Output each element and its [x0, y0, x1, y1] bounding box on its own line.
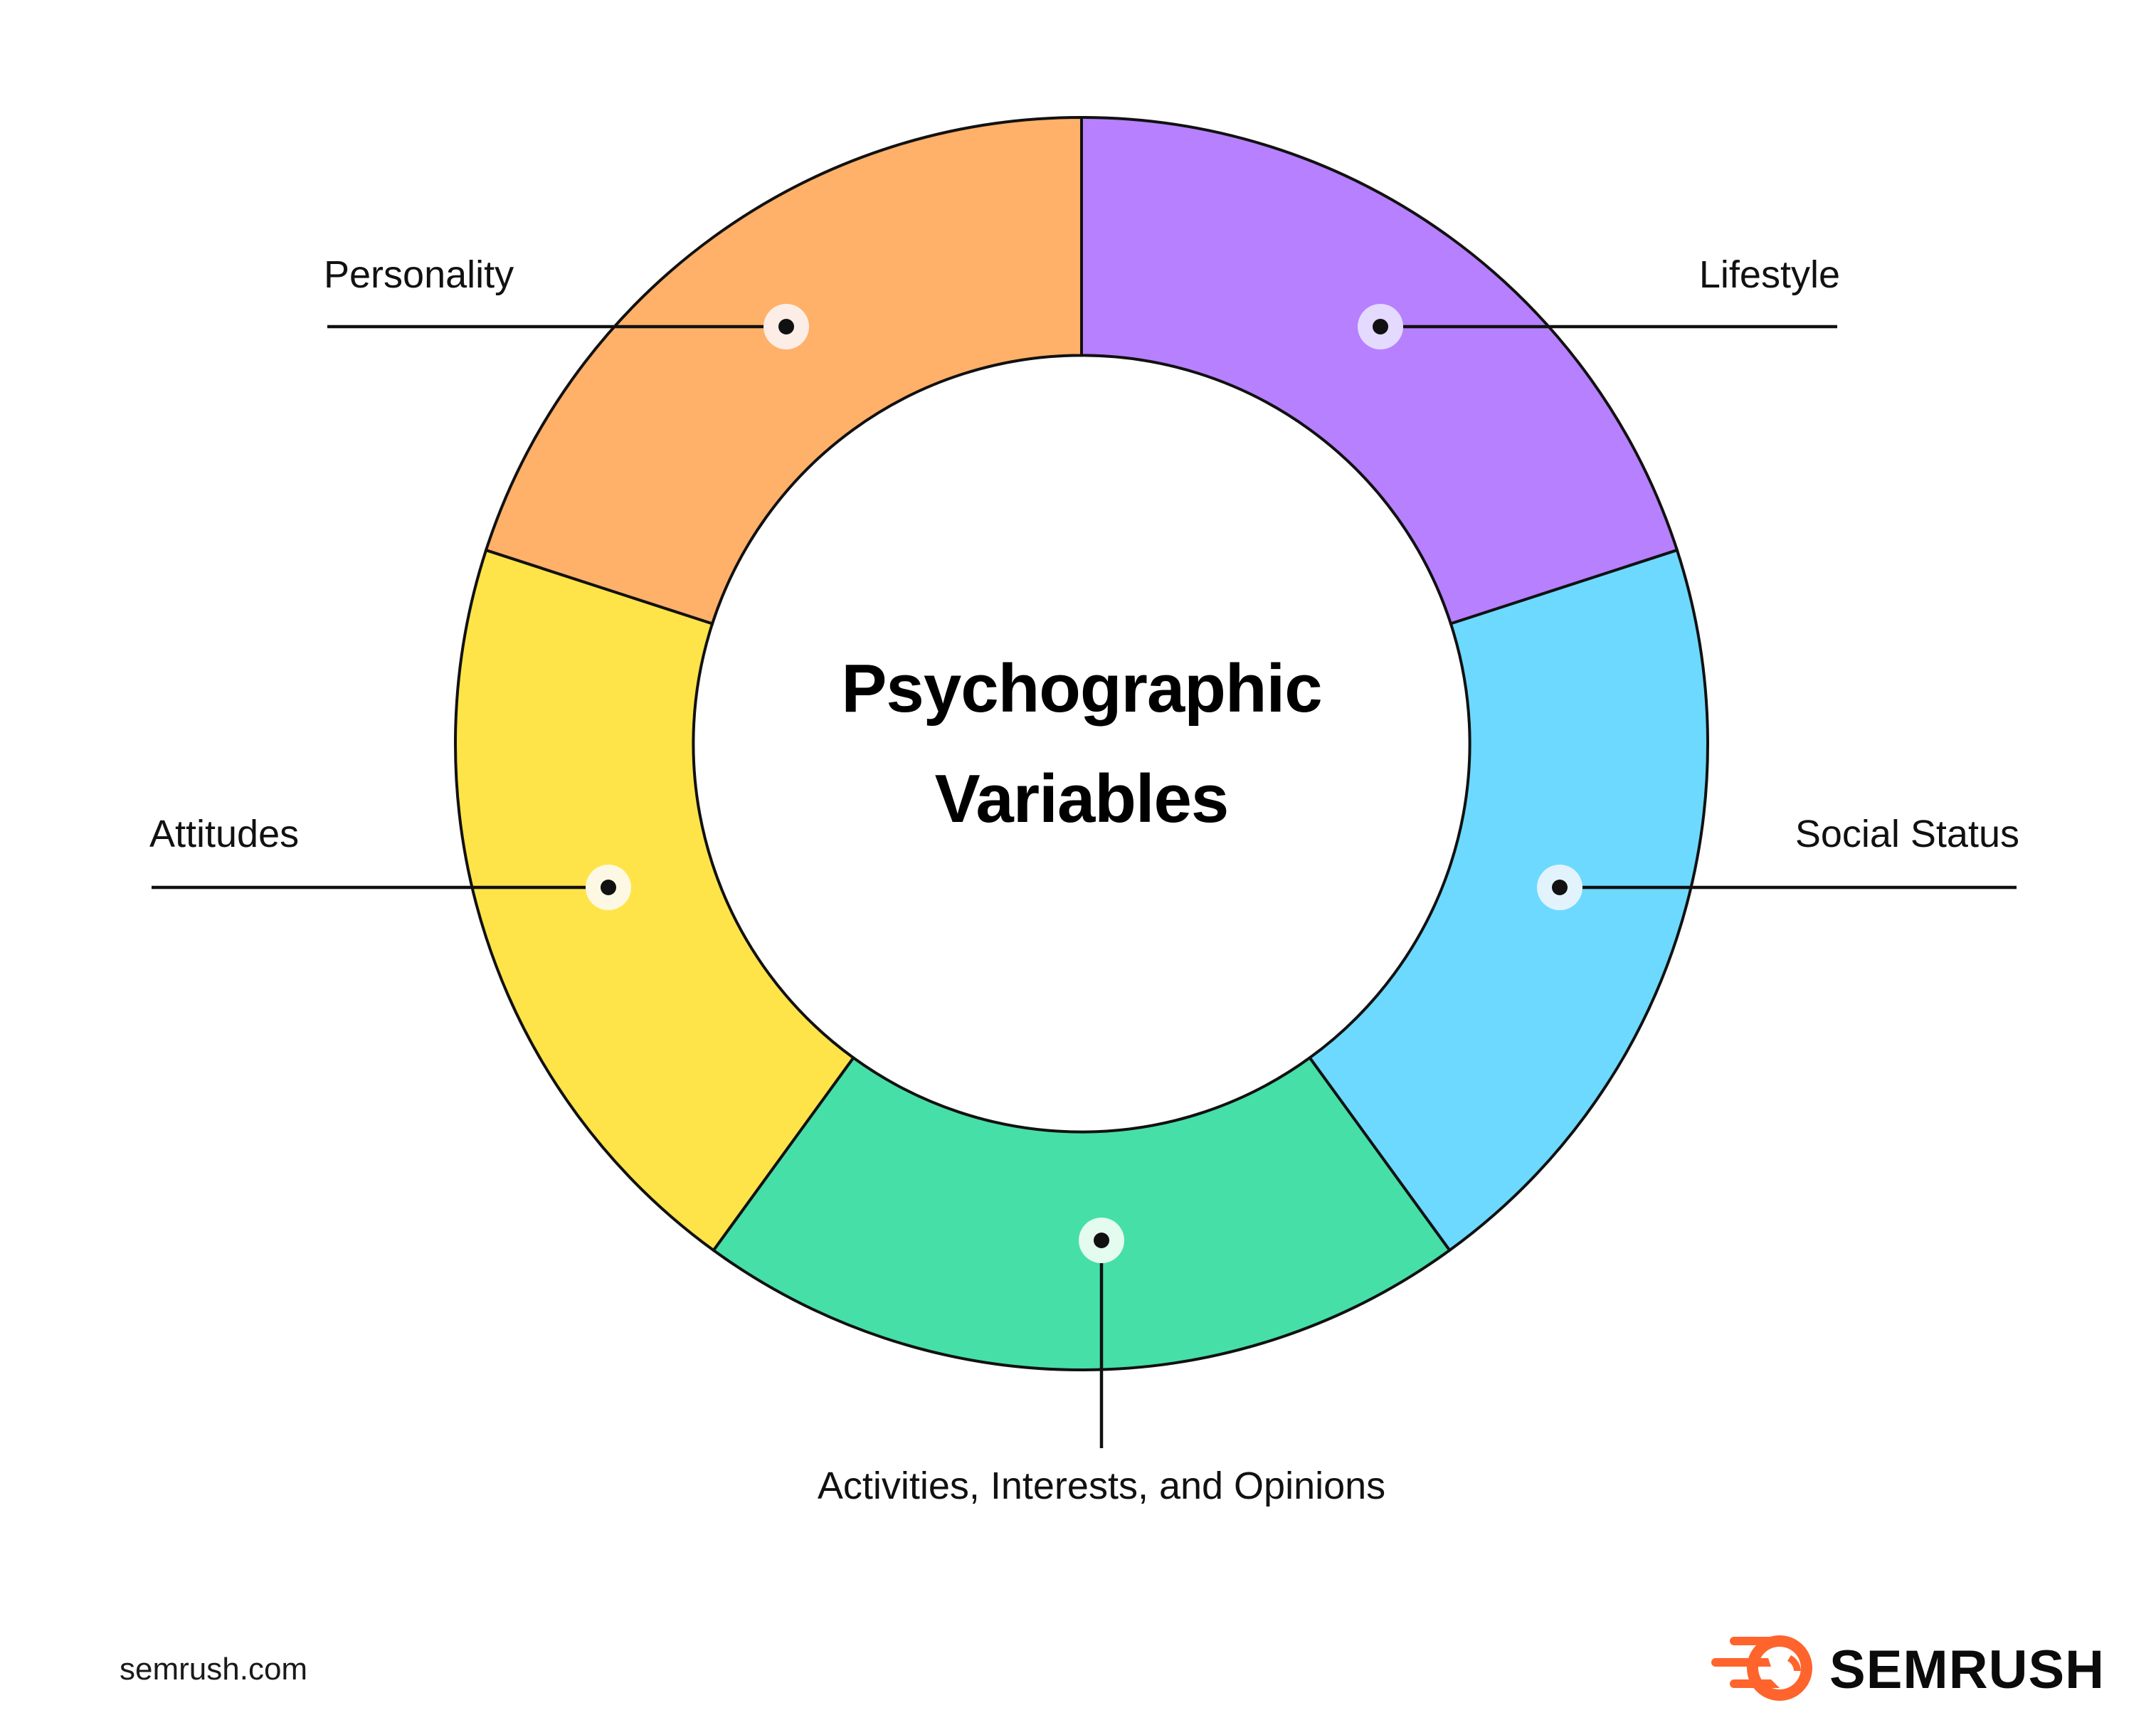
center-title-line-2: Variables	[935, 761, 1229, 837]
donut-segments-corrected	[455, 117, 1708, 1370]
anchor-dot-social-status[interactable]	[1537, 865, 1582, 910]
donut-segment-activities-interests-and-opinions[interactable]	[714, 1057, 1450, 1370]
label-attitudes: Attitudes	[149, 813, 299, 855]
label-personality: Personality	[324, 253, 514, 296]
psychographic-donut-diagram: Psychographic Variables Personality Life…	[0, 0, 2156, 1725]
label-social-status: Social Status	[1795, 813, 2019, 855]
anchor-dot-lifestyle[interactable]	[1358, 304, 1403, 349]
label-lifestyle: Lifestyle	[1699, 253, 1840, 296]
label-activities-interests-opinions: Activities, Interests, and Opinions	[818, 1465, 1385, 1507]
anchor-dot-aio[interactable]	[1079, 1218, 1124, 1263]
semrush-comet-icon	[1711, 1635, 1812, 1701]
anchor-dot-attitudes[interactable]	[586, 865, 631, 910]
semrush-logo: SEMRUSH	[1711, 1635, 2105, 1701]
donut-segment-personality[interactable]	[486, 117, 1082, 623]
center-title-line-1: Psychographic	[841, 650, 1321, 727]
donut-segment-lifestyle[interactable]	[1082, 117, 1677, 623]
semrush-wordmark: SEMRUSH	[1829, 1640, 2105, 1700]
anchor-dot-personality[interactable]	[763, 304, 809, 349]
footer-site-url[interactable]: semrush.com	[120, 1652, 307, 1687]
diagram-canvas: Psychographic Variables Personality Life…	[0, 0, 2156, 1725]
